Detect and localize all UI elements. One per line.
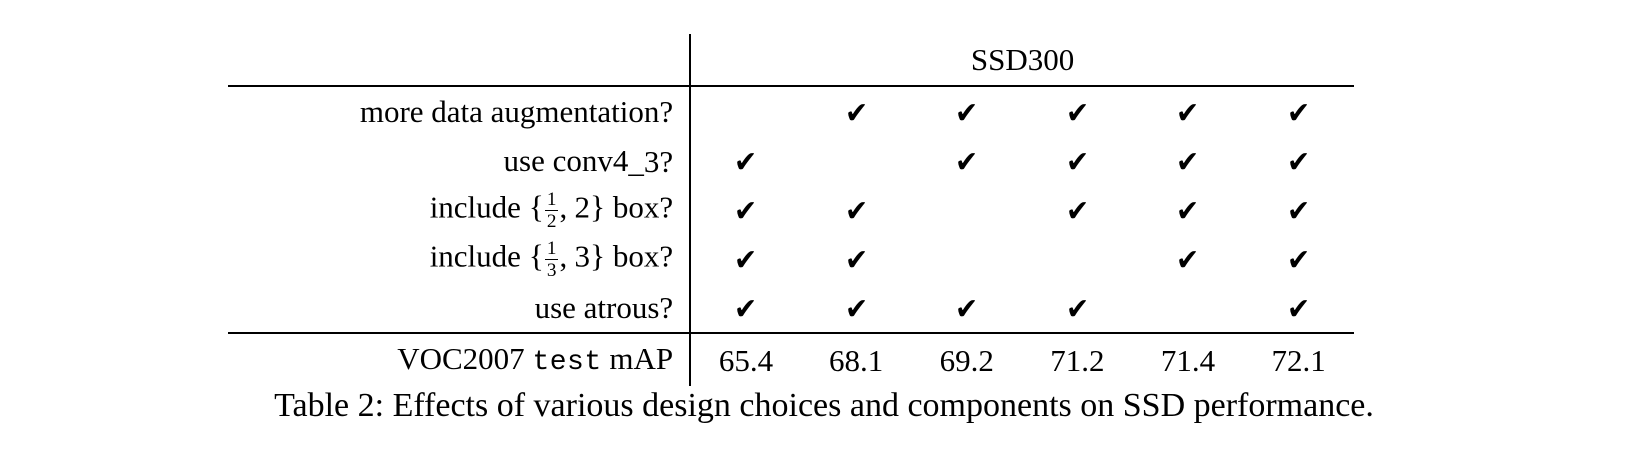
table-row: use conv4_3? ✔ ✔ ✔ ✔ ✔ ✔ xyxy=(228,136,1354,185)
checkmark-icon: ✔ xyxy=(734,148,757,178)
checkmark-icon: ✔ xyxy=(1176,246,1199,276)
checkmark-icon: ✔ xyxy=(845,246,868,276)
result-label-prefix: VOC2007 xyxy=(397,341,524,376)
close-brace: } xyxy=(590,239,605,274)
checkmark-icon: ✔ xyxy=(955,295,978,325)
cell-r4c6: ✔ xyxy=(1243,234,1354,283)
checkmark-icon: ✔ xyxy=(734,197,757,227)
math-comma: , xyxy=(559,239,568,274)
table-row: more data augmentation? ✔ ✔ ✔ ✔ ✔ ✔ xyxy=(228,86,1354,136)
checkmark-icon: ✔ xyxy=(1176,148,1199,178)
row-label-text: use atrous? xyxy=(535,290,674,325)
fraction-denominator: 3 xyxy=(545,260,559,281)
math-second-value: 2 xyxy=(574,190,590,225)
checkmark-icon: ✔ xyxy=(1176,99,1199,129)
cell-r3c1: ✔ xyxy=(690,185,801,234)
checkmark-icon: ✔ xyxy=(1176,197,1199,227)
checkmark-icon: ✔ xyxy=(734,295,757,325)
checkmark-icon: ✔ xyxy=(845,197,868,227)
checkmark-icon: ✔ xyxy=(1066,197,1089,227)
row-label-text-suffix: box? xyxy=(605,190,673,225)
close-brace: } xyxy=(590,190,605,225)
cell-r5c4: ✔ xyxy=(1022,283,1133,333)
header-group-ssd300: SSD300 xyxy=(690,34,1354,86)
cell-r4c4: ✔ xyxy=(1022,234,1133,283)
checkmark-icon: ✔ xyxy=(1287,99,1310,129)
row-label-voc2007-test-map: VOC2007 test mAP xyxy=(228,333,690,386)
table-header-row: SSD300 xyxy=(228,34,1354,86)
cell-r4c1: ✔ xyxy=(690,234,801,283)
fraction-one-third: 13 xyxy=(545,239,559,281)
row-label-text-prefix: include xyxy=(430,190,529,225)
cell-r2c4: ✔ xyxy=(1022,136,1133,185)
open-brace: { xyxy=(529,190,544,225)
row-label-text-sub: _3? xyxy=(628,144,673,179)
map-value-c3: 69.2 xyxy=(911,333,1022,386)
row-label-more-data-augmentation: more data augmentation? xyxy=(228,86,690,136)
map-value-c4: 71.2 xyxy=(1022,333,1133,386)
row-label-include-third-3-box: include {13, 3} box? xyxy=(228,234,690,283)
math-second-value: 3 xyxy=(574,239,590,274)
cell-r2c3: ✔ xyxy=(911,136,1022,185)
checkmark-icon: ✔ xyxy=(1066,295,1089,325)
cell-r5c5: ✔ xyxy=(1133,283,1244,333)
checkmark-icon: ✔ xyxy=(1066,148,1089,178)
open-brace: { xyxy=(529,239,544,274)
checkmark-icon: ✔ xyxy=(845,295,868,325)
table-row: use atrous? ✔ ✔ ✔ ✔ ✔ ✔ xyxy=(228,283,1354,333)
table-caption: Table 2: Effects of various design choic… xyxy=(0,386,1648,425)
checkmark-icon: ✔ xyxy=(1287,148,1310,178)
result-label-suffix: mAP xyxy=(609,341,673,376)
cell-r4c3: ✔ xyxy=(911,234,1022,283)
checkmark-icon: ✔ xyxy=(845,99,868,129)
cell-r1c3: ✔ xyxy=(911,86,1022,136)
map-value-c6: 72.1 xyxy=(1243,333,1354,386)
figure-container: SSD300 more data augmentation? ✔ ✔ ✔ ✔ ✔… xyxy=(0,0,1648,474)
fraction-denominator: 2 xyxy=(545,211,559,232)
fraction-one-half: 12 xyxy=(545,190,559,232)
checkmark-icon: ✔ xyxy=(734,246,757,276)
row-label-text-prefix: include xyxy=(430,239,529,274)
cell-r1c4: ✔ xyxy=(1022,86,1133,136)
cell-r5c3: ✔ xyxy=(911,283,1022,333)
caption-label: Table 2: xyxy=(274,387,384,424)
cell-r5c6: ✔ xyxy=(1243,283,1354,333)
table-row: include {12, 2} box? ✔ ✔ ✔ ✔ ✔ ✔ xyxy=(228,185,1354,234)
checkmark-icon: ✔ xyxy=(955,148,978,178)
checkmark-icon: ✔ xyxy=(1287,246,1310,276)
checkmark-icon: ✔ xyxy=(1287,197,1310,227)
caption-text: Effects of various design choices and co… xyxy=(393,387,1374,424)
cell-r2c6: ✔ xyxy=(1243,136,1354,185)
map-value-c1: 65.4 xyxy=(690,333,801,386)
cell-r1c6: ✔ xyxy=(1243,86,1354,136)
row-label-include-half-2-box: include {12, 2} box? xyxy=(228,185,690,234)
cell-r2c2: ✔ xyxy=(801,136,912,185)
result-label-mono: test xyxy=(532,347,601,378)
checkmark-icon: ✔ xyxy=(1066,99,1089,129)
math-comma: , xyxy=(559,190,568,225)
cell-r1c5: ✔ xyxy=(1133,86,1244,136)
row-label-text-suffix: box? xyxy=(605,239,673,274)
cell-r2c5: ✔ xyxy=(1133,136,1244,185)
cell-r5c1: ✔ xyxy=(690,283,801,333)
header-corner-cell xyxy=(228,34,690,86)
cell-r4c2: ✔ xyxy=(801,234,912,283)
cell-r2c1: ✔ xyxy=(690,136,801,185)
map-value-c5: 71.4 xyxy=(1133,333,1244,386)
cell-r3c4: ✔ xyxy=(1022,185,1133,234)
cell-r1c2: ✔ xyxy=(801,86,912,136)
table-block: SSD300 more data augmentation? ✔ ✔ ✔ ✔ ✔… xyxy=(228,34,1354,386)
row-label-use-atrous: use atrous? xyxy=(228,283,690,333)
row-label-use-conv4-3: use conv4_3? xyxy=(228,136,690,185)
row-label-text-prefix: use conv4 xyxy=(504,143,629,178)
checkmark-icon: ✔ xyxy=(955,99,978,129)
cell-r3c5: ✔ xyxy=(1133,185,1244,234)
cell-r5c2: ✔ xyxy=(801,283,912,333)
map-value-c2: 68.1 xyxy=(801,333,912,386)
fraction-numerator: 1 xyxy=(545,190,559,212)
table-row: include {13, 3} box? ✔ ✔ ✔ ✔ ✔ ✔ xyxy=(228,234,1354,283)
cell-r4c5: ✔ xyxy=(1133,234,1244,283)
fraction-numerator: 1 xyxy=(545,239,559,261)
table-result-row: VOC2007 test mAP 65.4 68.1 69.2 71.2 71.… xyxy=(228,333,1354,386)
cell-r3c3: ✔ xyxy=(911,185,1022,234)
row-label-text: more data augmentation? xyxy=(360,94,673,129)
cell-r3c6: ✔ xyxy=(1243,185,1354,234)
cell-r1c1: ✔ xyxy=(690,86,801,136)
checkmark-icon: ✔ xyxy=(1287,295,1310,325)
cell-r3c2: ✔ xyxy=(801,185,912,234)
results-table: SSD300 more data augmentation? ✔ ✔ ✔ ✔ ✔… xyxy=(228,34,1354,386)
